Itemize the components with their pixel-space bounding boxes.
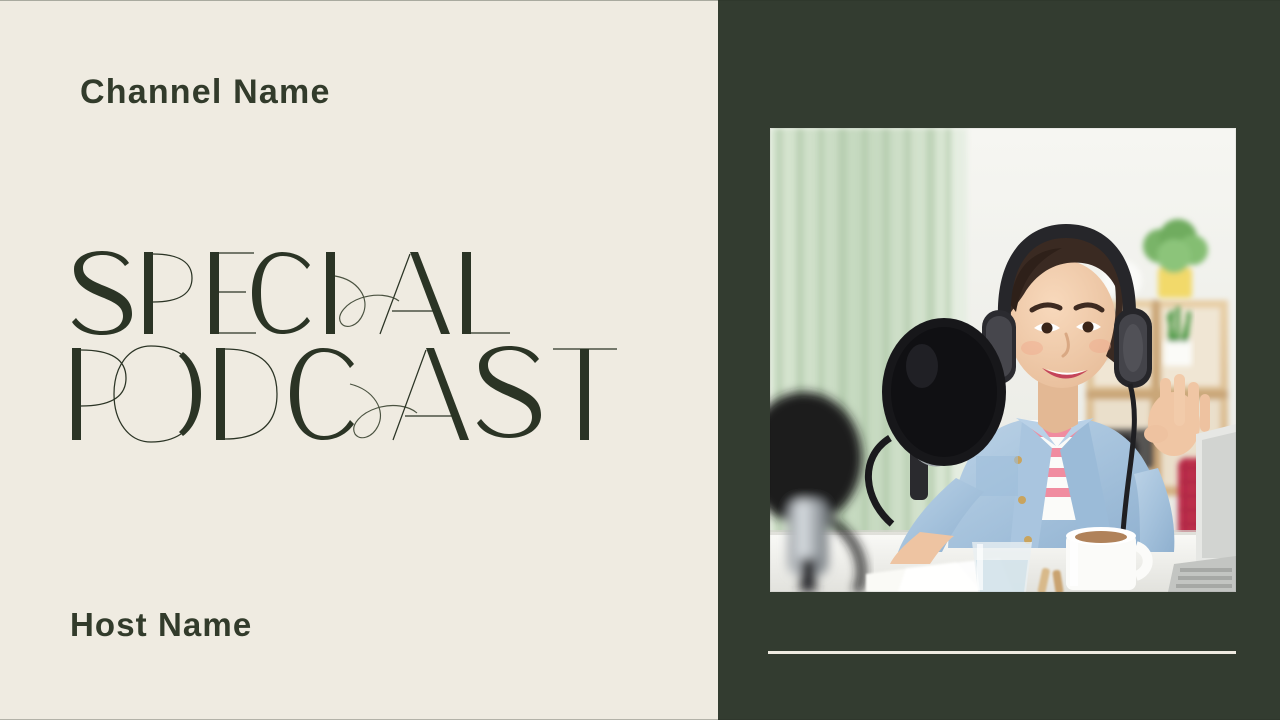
title-line-podcast: [72, 346, 617, 442]
photo-glass: [972, 542, 1032, 592]
title-line-special: [72, 251, 510, 335]
podcast-host-photo-artwork: Woman wearing black over-ear headphones …: [770, 128, 1236, 592]
podcast-title: SPECIAL PODCAST: [58, 246, 588, 446]
right-image-panel: Woman wearing black over-ear headphones …: [718, 0, 1280, 720]
photo-mug: [1066, 527, 1148, 590]
podcast-title-artwork: SPECIAL PODCAST: [58, 246, 588, 446]
channel-name-label: Channel Name: [80, 73, 331, 112]
left-text-panel: Channel Name SPECIAL PODCAST: [0, 0, 718, 720]
host-name-label: Host Name: [70, 606, 252, 644]
accent-divider-rule: [768, 651, 1236, 654]
podcast-host-photo: Woman wearing black over-ear headphones …: [770, 128, 1236, 592]
podcast-cover-canvas: Channel Name SPECIAL PODCAST: [0, 0, 1280, 720]
